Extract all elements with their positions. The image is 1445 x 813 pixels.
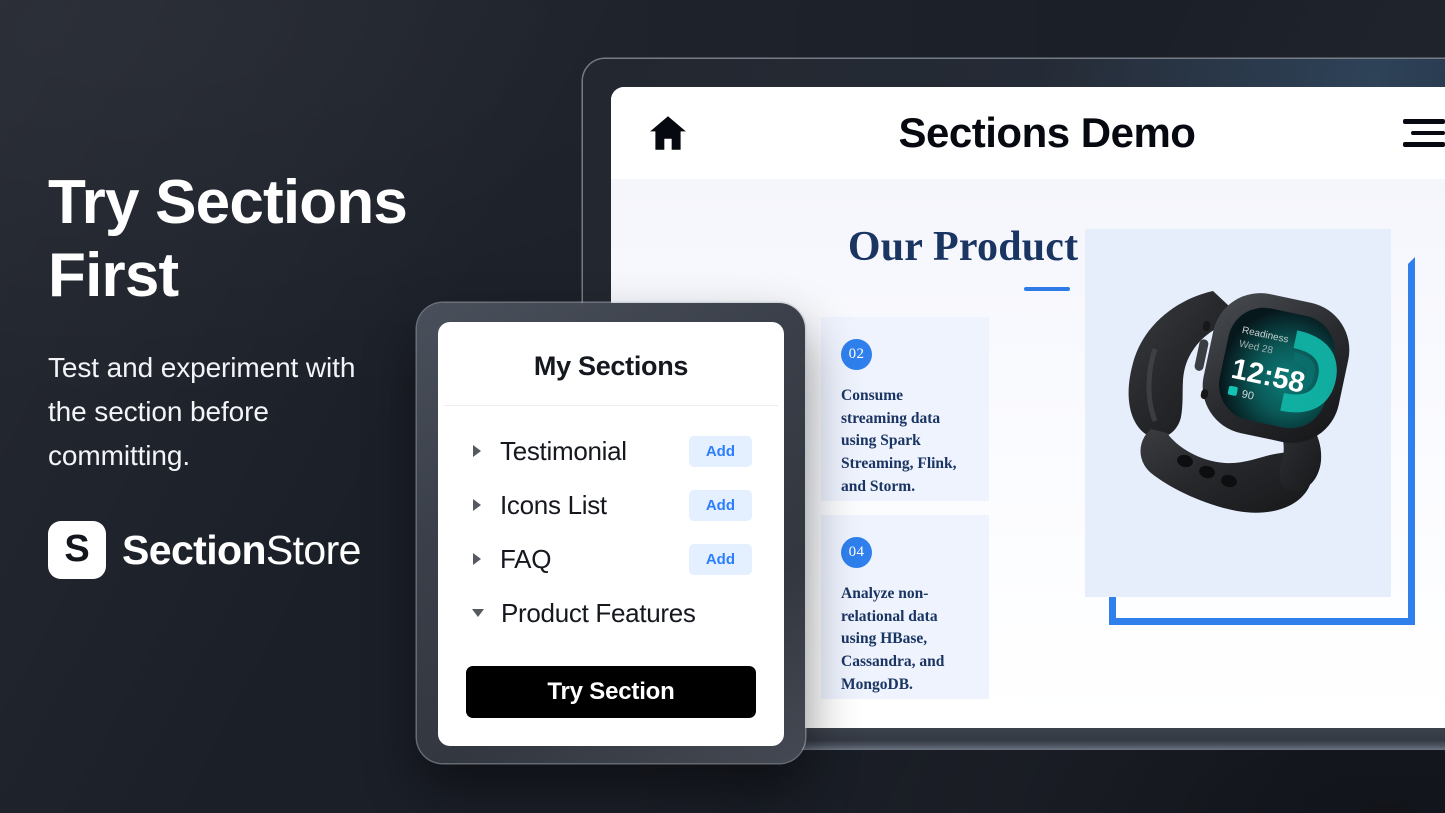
- caret-right-icon[interactable]: [473, 445, 481, 457]
- site-navbar: Sections Demo: [611, 87, 1445, 179]
- card-text: Analyze non-relational data using HBase,…: [841, 583, 969, 696]
- my-sections-panel: My Sections Testimonial Add Icons List A…: [438, 322, 784, 746]
- heading-underline: [1024, 287, 1070, 291]
- caret-right-icon[interactable]: [473, 553, 481, 565]
- brand-logo[interactable]: S SectionStore: [48, 521, 361, 579]
- section-label: FAQ: [500, 544, 551, 575]
- watch-score: 90: [1241, 388, 1255, 402]
- section-label: Icons List: [500, 490, 607, 521]
- add-button[interactable]: Add: [689, 544, 752, 575]
- product-image-block: Readiness Wed 28 12:58 90: [1085, 229, 1415, 625]
- brand-name-light: Store: [266, 527, 361, 573]
- card-text: Consume streaming data using Spark Strea…: [841, 385, 969, 498]
- add-button[interactable]: Add: [689, 490, 752, 521]
- hero-subtitle: Test and experiment with the section bef…: [48, 346, 388, 477]
- hamburger-menu-icon[interactable]: [1403, 119, 1445, 147]
- try-section-button[interactable]: Try Section: [466, 666, 756, 718]
- page-title: Try Sections First: [48, 166, 478, 312]
- card-number-badge: 04: [841, 537, 872, 568]
- card-number-badge: 02: [841, 339, 872, 370]
- feature-card: 04 Analyze non-relational data using HBa…: [821, 515, 989, 699]
- site-title: Sections Demo: [611, 109, 1445, 157]
- list-item[interactable]: Icons List Add: [470, 478, 752, 532]
- brand-name: SectionStore: [122, 527, 361, 574]
- logo-mark-icon: S: [48, 521, 106, 579]
- brand-name-bold: Section: [122, 527, 266, 573]
- tablet-mockup: My Sections Testimonial Add Icons List A…: [417, 303, 805, 763]
- list-item-selected[interactable]: Product Features: [470, 586, 752, 640]
- sections-list: Testimonial Add Icons List Add FAQ Add P…: [438, 406, 784, 666]
- list-item[interactable]: FAQ Add: [470, 532, 752, 586]
- hero-copy: Try Sections First Test and experiment w…: [48, 166, 478, 477]
- promo-banner: Try Sections First Test and experiment w…: [0, 0, 1445, 813]
- list-item[interactable]: Testimonial Add: [470, 424, 752, 478]
- home-icon[interactable]: [645, 112, 691, 154]
- product-photo: Readiness Wed 28 12:58 90: [1085, 229, 1391, 597]
- caret-right-icon[interactable]: [473, 499, 481, 511]
- add-button[interactable]: Add: [689, 436, 752, 467]
- section-label: Product Features: [501, 598, 696, 629]
- panel-title: My Sections: [438, 322, 784, 405]
- feature-card: 02 Consume streaming data using Spark St…: [821, 317, 989, 501]
- caret-down-icon[interactable]: [472, 609, 484, 617]
- section-label: Testimonial: [500, 436, 627, 467]
